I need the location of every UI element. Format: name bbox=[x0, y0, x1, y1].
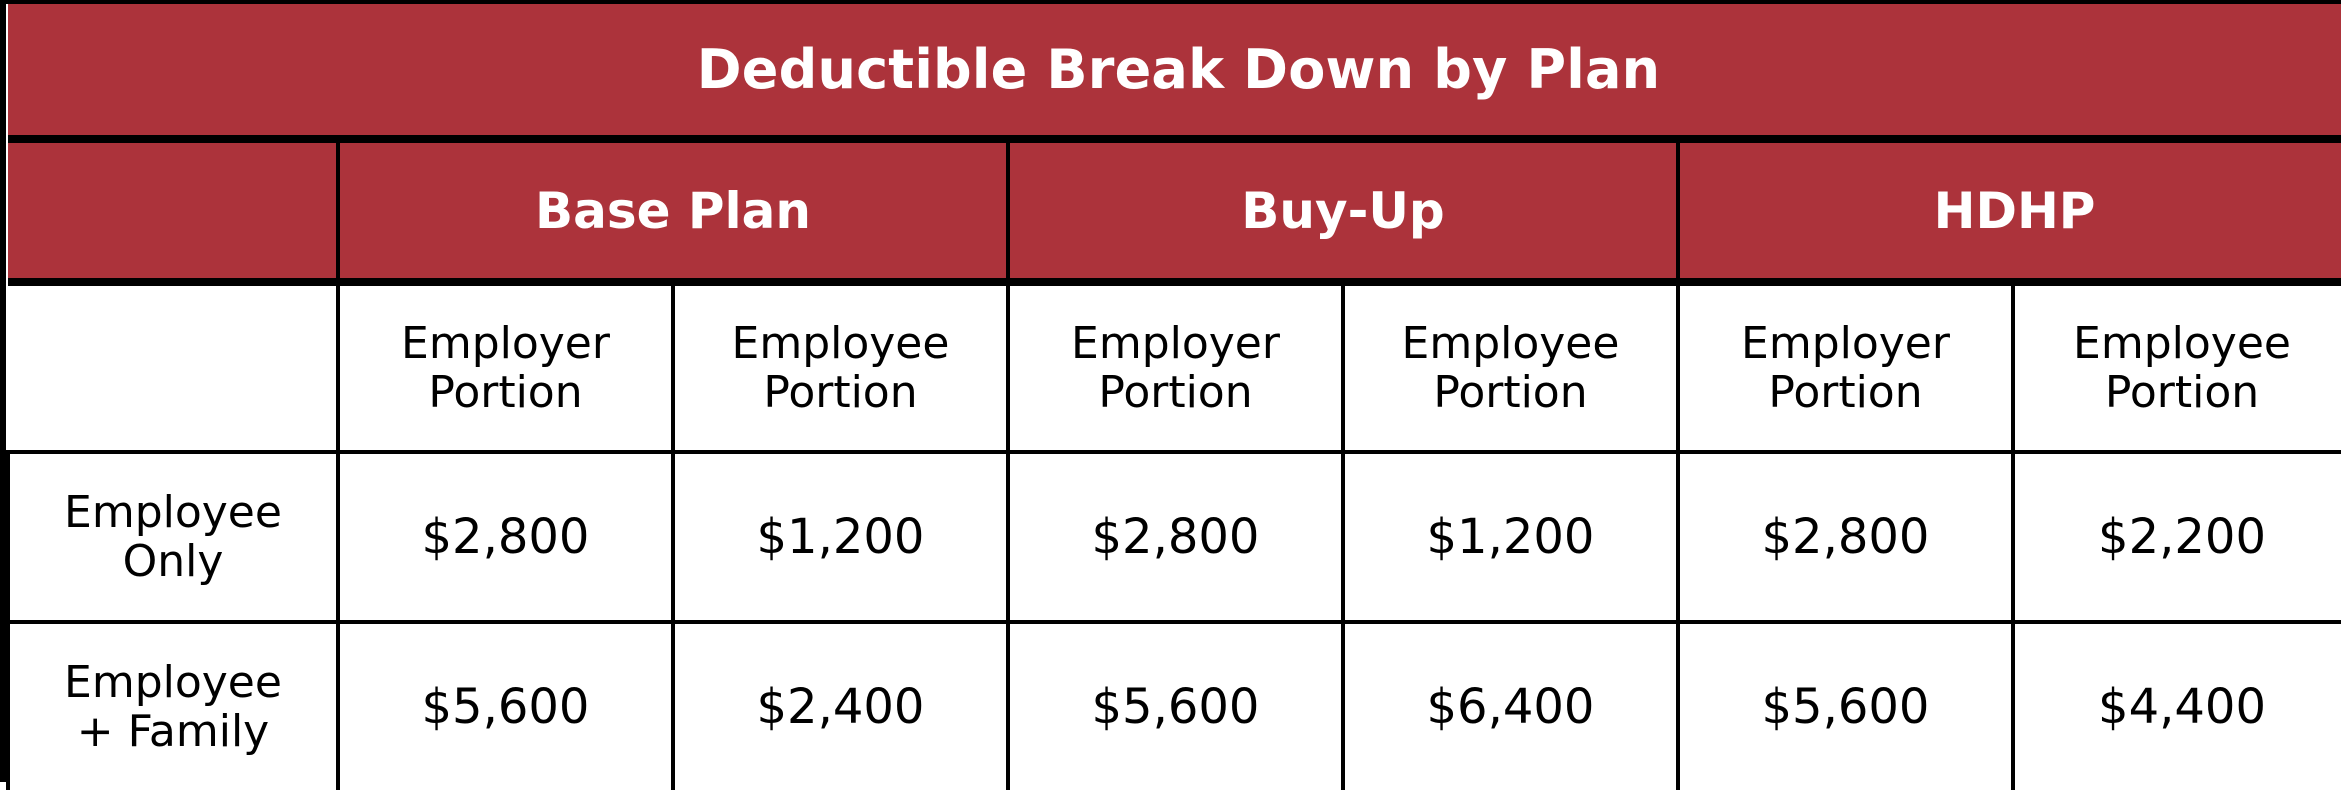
portion-header-line1: Employee bbox=[2015, 319, 2341, 368]
row-label-employee-family: Employee + Family bbox=[8, 622, 338, 790]
deductible-breakdown-table: Deductible Break Down by Plan Base Plan … bbox=[6, 4, 2341, 790]
row-label-line1: Employee bbox=[10, 488, 336, 537]
portion-header-line2: Portion bbox=[2015, 368, 2341, 417]
cell-employee-only-base-employer: $2,800 bbox=[338, 452, 673, 622]
portion-header-line2: Portion bbox=[675, 368, 1006, 417]
portion-header-blank-cell bbox=[8, 282, 338, 452]
cell-employee-family-hdhp-employee: $4,400 bbox=[2013, 622, 2341, 790]
portion-header-hdhp-employer: Employer Portion bbox=[1678, 282, 2013, 452]
table-row: Employee + Family $5,600 $2,400 $5,600 $… bbox=[8, 622, 2341, 790]
portion-header-base-employer: Employer Portion bbox=[338, 282, 673, 452]
row-label-line2: + Family bbox=[10, 707, 336, 756]
cell-employee-only-hdhp-employee: $2,200 bbox=[2013, 452, 2341, 622]
plan-header-base-plan: Base Plan bbox=[338, 139, 1008, 282]
table-row: Employee Only $2,800 $1,200 $2,800 $1,20… bbox=[8, 452, 2341, 622]
deductible-table-container: Deductible Break Down by Plan Base Plan … bbox=[0, 0, 2341, 782]
title-row: Deductible Break Down by Plan bbox=[8, 4, 2341, 139]
portion-header-line2: Portion bbox=[340, 368, 671, 417]
cell-employee-only-base-employee: $1,200 bbox=[673, 452, 1008, 622]
cell-employee-only-hdhp-employer: $2,800 bbox=[1678, 452, 2013, 622]
plan-header-row: Base Plan Buy-Up HDHP bbox=[8, 139, 2341, 282]
corner-blank-cell bbox=[8, 139, 338, 282]
portion-header-line1: Employer bbox=[1680, 319, 2011, 368]
cell-employee-only-buyup-employer: $2,800 bbox=[1008, 452, 1343, 622]
cell-employee-family-base-employer: $5,600 bbox=[338, 622, 673, 790]
row-label-line2: Only bbox=[10, 537, 336, 586]
cell-employee-only-buyup-employee: $1,200 bbox=[1343, 452, 1678, 622]
page-title: Deductible Break Down by Plan bbox=[8, 4, 2341, 139]
portion-header-base-employee: Employee Portion bbox=[673, 282, 1008, 452]
cell-employee-family-buyup-employer: $5,600 bbox=[1008, 622, 1343, 790]
cell-employee-family-buyup-employee: $6,400 bbox=[1343, 622, 1678, 790]
row-label-employee-only: Employee Only bbox=[8, 452, 338, 622]
portion-header-hdhp-employee: Employee Portion bbox=[2013, 282, 2341, 452]
portion-header-buyup-employee: Employee Portion bbox=[1343, 282, 1678, 452]
portion-header-line1: Employer bbox=[1010, 319, 1341, 368]
row-label-line1: Employee bbox=[10, 658, 336, 707]
portion-header-row: Employer Portion Employee Portion Employ… bbox=[8, 282, 2341, 452]
cell-employee-family-base-employee: $2,400 bbox=[673, 622, 1008, 790]
portion-header-line1: Employer bbox=[340, 319, 671, 368]
portion-header-line2: Portion bbox=[1010, 368, 1341, 417]
plan-header-hdhp: HDHP bbox=[1678, 139, 2341, 282]
plan-header-buy-up: Buy-Up bbox=[1008, 139, 1678, 282]
portion-header-line2: Portion bbox=[1345, 368, 1676, 417]
portion-header-line1: Employee bbox=[1345, 319, 1676, 368]
cell-employee-family-hdhp-employer: $5,600 bbox=[1678, 622, 2013, 790]
portion-header-line1: Employee bbox=[675, 319, 1006, 368]
portion-header-line2: Portion bbox=[1680, 368, 2011, 417]
portion-header-buyup-employer: Employer Portion bbox=[1008, 282, 1343, 452]
